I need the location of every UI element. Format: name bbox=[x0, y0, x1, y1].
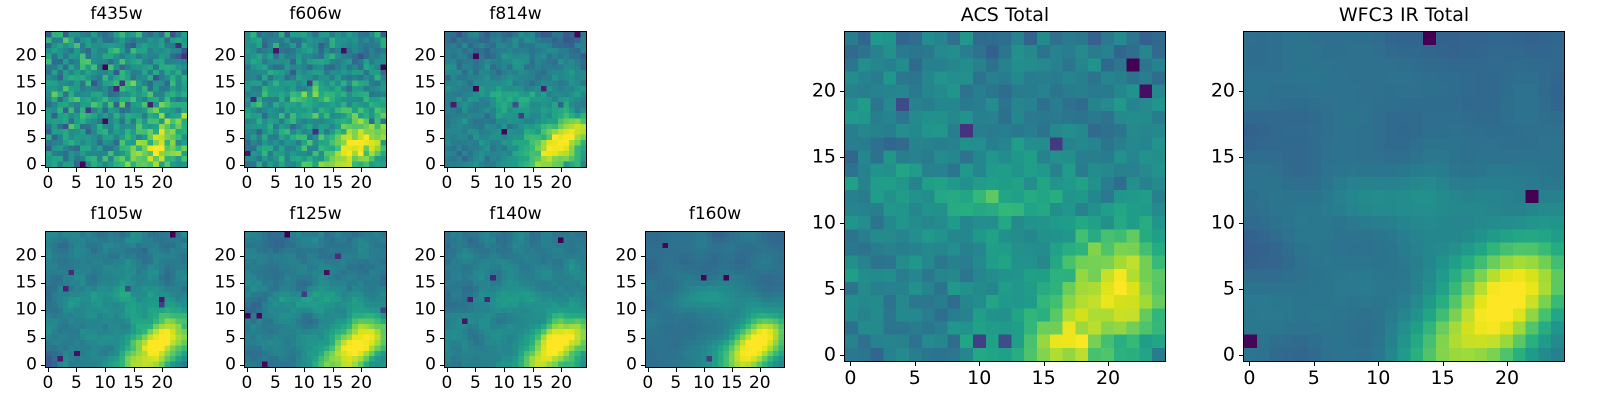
y-tick-label-f606w-15: 15 bbox=[202, 75, 236, 92]
y-tick-label-f814w-10: 10 bbox=[402, 102, 436, 119]
heatmap-acs-total bbox=[844, 31, 1166, 362]
x-tick-label-f105w-20: 20 bbox=[151, 375, 173, 392]
y-tick-f435w-20 bbox=[41, 56, 45, 57]
y-tick-f105w-15 bbox=[41, 283, 45, 284]
y-tick-f606w-15 bbox=[240, 83, 244, 84]
panel-title-acs-total: ACS Total bbox=[844, 6, 1166, 25]
x-tick-f606w-15 bbox=[333, 168, 334, 172]
y-tick-f606w-0 bbox=[240, 165, 244, 166]
x-tick-label-f606w-15: 15 bbox=[322, 175, 344, 192]
heatmap-wfc3-ir-total bbox=[1243, 31, 1565, 362]
y-tick-label-f105w-5: 5 bbox=[3, 329, 37, 346]
y-tick-f125w-20 bbox=[240, 256, 244, 257]
x-tick-label-f606w-0: 0 bbox=[241, 175, 252, 192]
heatmap-f105w bbox=[45, 231, 188, 368]
heatmap-canvas-acs-total bbox=[845, 32, 1165, 361]
y-tick-label-f105w-10: 10 bbox=[3, 302, 37, 319]
y-tick-label-f606w-10: 10 bbox=[202, 102, 236, 119]
y-tick-wfc3-ir-total-0 bbox=[1239, 355, 1243, 356]
y-tick-f435w-0 bbox=[41, 165, 45, 166]
x-tick-label-f814w-0: 0 bbox=[441, 175, 452, 192]
y-tick-label-f435w-0: 0 bbox=[3, 157, 37, 174]
x-tick-label-wfc3-ir-total-15: 15 bbox=[1431, 369, 1455, 388]
y-tick-label-f125w-15: 15 bbox=[202, 275, 236, 292]
y-tick-label-acs-total-0: 0 bbox=[802, 346, 836, 365]
y-tick-f606w-10 bbox=[240, 110, 244, 111]
x-tick-label-acs-total-0: 0 bbox=[844, 369, 856, 388]
heatmap-canvas-f105w bbox=[46, 232, 187, 367]
x-tick-label-f105w-10: 10 bbox=[94, 375, 116, 392]
x-tick-f606w-20 bbox=[361, 168, 362, 172]
x-tick-label-f606w-10: 10 bbox=[293, 175, 315, 192]
y-tick-label-f105w-0: 0 bbox=[3, 357, 37, 374]
y-tick-acs-total-5 bbox=[840, 289, 844, 290]
y-tick-acs-total-15 bbox=[840, 157, 844, 158]
x-tick-label-acs-total-20: 20 bbox=[1096, 369, 1120, 388]
y-tick-label-f125w-10: 10 bbox=[202, 302, 236, 319]
x-tick-acs-total-10 bbox=[979, 362, 980, 366]
y-tick-label-f125w-20: 20 bbox=[202, 247, 236, 264]
x-tick-label-f125w-5: 5 bbox=[270, 375, 281, 392]
panel-f160w: f160w0510152005101520 bbox=[603, 203, 785, 398]
x-tick-label-f140w-5: 5 bbox=[470, 375, 481, 392]
y-tick-wfc3-ir-total-20 bbox=[1239, 91, 1243, 92]
x-tick-label-wfc3-ir-total-10: 10 bbox=[1366, 369, 1390, 388]
y-tick-label-acs-total-5: 5 bbox=[802, 280, 836, 299]
panel-title-wfc3-ir-total: WFC3 IR Total bbox=[1243, 6, 1565, 25]
x-tick-label-f435w-20: 20 bbox=[151, 175, 173, 192]
y-tick-f814w-15 bbox=[440, 83, 444, 84]
panel-title-f140w: f140w bbox=[444, 206, 587, 223]
y-tick-label-f140w-10: 10 bbox=[402, 302, 436, 319]
x-tick-f140w-10 bbox=[504, 368, 505, 372]
x-tick-label-f814w-15: 15 bbox=[522, 175, 544, 192]
y-tick-label-acs-total-15: 15 bbox=[802, 147, 836, 166]
x-tick-f435w-20 bbox=[162, 168, 163, 172]
y-tick-label-acs-total-20: 20 bbox=[802, 81, 836, 100]
y-tick-label-f140w-20: 20 bbox=[402, 247, 436, 264]
y-tick-label-wfc3-ir-total-5: 5 bbox=[1201, 280, 1235, 299]
y-tick-label-f606w-0: 0 bbox=[202, 157, 236, 174]
x-tick-wfc3-ir-total-5 bbox=[1314, 362, 1315, 366]
x-tick-label-wfc3-ir-total-0: 0 bbox=[1243, 369, 1255, 388]
heatmap-canvas-f435w bbox=[46, 32, 187, 167]
x-tick-acs-total-20 bbox=[1108, 362, 1109, 366]
x-tick-f814w-15 bbox=[533, 168, 534, 172]
x-tick-label-f435w-5: 5 bbox=[71, 175, 82, 192]
x-tick-f125w-15 bbox=[333, 368, 334, 372]
y-tick-acs-total-20 bbox=[840, 91, 844, 92]
y-tick-f105w-5 bbox=[41, 338, 45, 339]
x-tick-label-f814w-20: 20 bbox=[550, 175, 572, 192]
x-tick-wfc3-ir-total-15 bbox=[1443, 362, 1444, 366]
panel-title-f435w: f435w bbox=[45, 6, 188, 23]
x-tick-acs-total-0 bbox=[850, 362, 851, 366]
x-tick-label-f125w-10: 10 bbox=[293, 375, 315, 392]
x-tick-f814w-0 bbox=[447, 168, 448, 172]
y-tick-acs-total-0 bbox=[840, 355, 844, 356]
x-tick-f606w-10 bbox=[304, 168, 305, 172]
x-tick-f160w-15 bbox=[732, 368, 733, 372]
y-tick-label-wfc3-ir-total-0: 0 bbox=[1201, 346, 1235, 365]
x-tick-label-f606w-20: 20 bbox=[350, 175, 372, 192]
panel-title-f814w: f814w bbox=[444, 6, 587, 23]
x-tick-label-f435w-0: 0 bbox=[42, 175, 53, 192]
heatmap-f125w bbox=[244, 231, 387, 368]
y-tick-f814w-0 bbox=[440, 165, 444, 166]
y-tick-label-f435w-10: 10 bbox=[3, 102, 37, 119]
x-tick-f814w-20 bbox=[561, 168, 562, 172]
y-tick-f140w-0 bbox=[440, 365, 444, 366]
x-tick-label-f160w-10: 10 bbox=[693, 375, 715, 392]
x-tick-f140w-5 bbox=[475, 368, 476, 372]
x-tick-f125w-5 bbox=[275, 368, 276, 372]
y-tick-f160w-10 bbox=[641, 310, 645, 311]
y-tick-acs-total-10 bbox=[840, 223, 844, 224]
y-tick-f140w-20 bbox=[440, 256, 444, 257]
x-tick-f435w-15 bbox=[134, 168, 135, 172]
y-tick-f140w-10 bbox=[440, 310, 444, 311]
x-tick-label-f606w-5: 5 bbox=[270, 175, 281, 192]
y-tick-f140w-15 bbox=[440, 283, 444, 284]
y-tick-label-wfc3-ir-total-10: 10 bbox=[1201, 213, 1235, 232]
x-tick-label-f160w-5: 5 bbox=[670, 375, 681, 392]
y-tick-label-acs-total-10: 10 bbox=[802, 213, 836, 232]
heatmap-canvas-f140w bbox=[445, 232, 586, 367]
x-tick-label-f160w-20: 20 bbox=[749, 375, 771, 392]
x-tick-f814w-5 bbox=[475, 168, 476, 172]
x-tick-wfc3-ir-total-20 bbox=[1507, 362, 1508, 366]
x-tick-f140w-0 bbox=[447, 368, 448, 372]
panel-title-f606w: f606w bbox=[244, 6, 387, 23]
x-tick-label-f125w-15: 15 bbox=[322, 375, 344, 392]
x-tick-label-f160w-15: 15 bbox=[721, 375, 743, 392]
y-tick-label-f160w-0: 0 bbox=[603, 357, 637, 374]
y-tick-label-f814w-20: 20 bbox=[402, 47, 436, 64]
x-tick-label-acs-total-5: 5 bbox=[909, 369, 921, 388]
y-tick-f125w-10 bbox=[240, 310, 244, 311]
x-tick-f105w-10 bbox=[105, 368, 106, 372]
y-tick-f435w-10 bbox=[41, 110, 45, 111]
x-tick-label-f105w-5: 5 bbox=[71, 375, 82, 392]
panel-title-f125w: f125w bbox=[244, 206, 387, 223]
heatmap-f435w bbox=[45, 31, 188, 168]
x-tick-f160w-20 bbox=[760, 368, 761, 372]
panel-f105w: f105w0510152005101520 bbox=[3, 203, 188, 398]
panel-f435w: f435w0510152005101520 bbox=[3, 3, 188, 198]
y-tick-label-f160w-10: 10 bbox=[603, 302, 637, 319]
y-tick-wfc3-ir-total-5 bbox=[1239, 289, 1243, 290]
y-tick-label-f160w-5: 5 bbox=[603, 329, 637, 346]
x-tick-label-f814w-10: 10 bbox=[493, 175, 515, 192]
x-tick-label-f125w-0: 0 bbox=[241, 375, 252, 392]
y-tick-label-f125w-0: 0 bbox=[202, 357, 236, 374]
heatmap-f814w bbox=[444, 31, 587, 168]
y-tick-f125w-5 bbox=[240, 338, 244, 339]
y-tick-wfc3-ir-total-10 bbox=[1239, 223, 1243, 224]
x-tick-label-f140w-0: 0 bbox=[441, 375, 452, 392]
x-tick-label-f140w-10: 10 bbox=[493, 375, 515, 392]
y-tick-f140w-5 bbox=[440, 338, 444, 339]
x-tick-f125w-0 bbox=[247, 368, 248, 372]
panel-acs-total: ACS Total0510152005101520 bbox=[802, 3, 1166, 392]
x-tick-label-f435w-10: 10 bbox=[94, 175, 116, 192]
y-tick-f160w-15 bbox=[641, 283, 645, 284]
heatmap-f606w bbox=[244, 31, 387, 168]
x-tick-wfc3-ir-total-10 bbox=[1378, 362, 1379, 366]
x-tick-label-f105w-0: 0 bbox=[42, 375, 53, 392]
y-tick-label-f435w-5: 5 bbox=[3, 129, 37, 146]
panel-title-f105w: f105w bbox=[45, 206, 188, 223]
x-tick-label-f160w-0: 0 bbox=[642, 375, 653, 392]
y-tick-label-f140w-5: 5 bbox=[402, 329, 436, 346]
x-tick-label-acs-total-15: 15 bbox=[1032, 369, 1056, 388]
x-tick-label-f435w-15: 15 bbox=[123, 175, 145, 192]
x-tick-f105w-20 bbox=[162, 368, 163, 372]
panel-title-f160w: f160w bbox=[645, 206, 785, 223]
x-tick-f105w-0 bbox=[48, 368, 49, 372]
heatmap-canvas-f125w bbox=[245, 232, 386, 367]
x-tick-f140w-15 bbox=[533, 368, 534, 372]
y-tick-label-f814w-5: 5 bbox=[402, 129, 436, 146]
x-tick-wfc3-ir-total-0 bbox=[1249, 362, 1250, 366]
panel-f606w: f606w0510152005101520 bbox=[202, 3, 387, 198]
x-tick-f105w-15 bbox=[134, 368, 135, 372]
panel-f140w: f140w0510152005101520 bbox=[402, 203, 587, 398]
y-tick-f125w-0 bbox=[240, 365, 244, 366]
x-tick-f435w-5 bbox=[76, 168, 77, 172]
y-tick-f160w-20 bbox=[641, 256, 645, 257]
x-tick-f435w-0 bbox=[48, 168, 49, 172]
figure-canvas: f435w0510152005101520f606w05101520051015… bbox=[0, 0, 1600, 400]
y-tick-label-f160w-15: 15 bbox=[603, 275, 637, 292]
panel-f814w: f814w0510152005101520 bbox=[402, 3, 587, 198]
y-tick-label-f814w-0: 0 bbox=[402, 157, 436, 174]
x-tick-acs-total-5 bbox=[915, 362, 916, 366]
y-tick-f606w-5 bbox=[240, 138, 244, 139]
y-tick-label-wfc3-ir-total-20: 20 bbox=[1201, 81, 1235, 100]
y-tick-f105w-20 bbox=[41, 256, 45, 257]
y-tick-f160w-5 bbox=[641, 338, 645, 339]
y-tick-f814w-10 bbox=[440, 110, 444, 111]
heatmap-f160w bbox=[645, 231, 785, 368]
y-tick-label-f105w-15: 15 bbox=[3, 275, 37, 292]
x-tick-label-f140w-20: 20 bbox=[550, 375, 572, 392]
y-tick-label-f160w-20: 20 bbox=[603, 247, 637, 264]
y-tick-label-f814w-15: 15 bbox=[402, 75, 436, 92]
y-tick-label-wfc3-ir-total-15: 15 bbox=[1201, 147, 1235, 166]
x-tick-label-f105w-15: 15 bbox=[123, 375, 145, 392]
y-tick-f435w-15 bbox=[41, 83, 45, 84]
heatmap-f140w bbox=[444, 231, 587, 368]
y-tick-label-f140w-0: 0 bbox=[402, 357, 436, 374]
x-tick-f606w-0 bbox=[247, 168, 248, 172]
x-tick-f105w-5 bbox=[76, 368, 77, 372]
heatmap-canvas-f814w bbox=[445, 32, 586, 167]
y-tick-f435w-5 bbox=[41, 138, 45, 139]
x-tick-label-wfc3-ir-total-20: 20 bbox=[1495, 369, 1519, 388]
x-tick-label-wfc3-ir-total-5: 5 bbox=[1308, 369, 1320, 388]
x-tick-acs-total-15 bbox=[1044, 362, 1045, 366]
y-tick-f606w-20 bbox=[240, 56, 244, 57]
y-tick-label-f125w-5: 5 bbox=[202, 329, 236, 346]
x-tick-f140w-20 bbox=[561, 368, 562, 372]
x-tick-f160w-10 bbox=[704, 368, 705, 372]
x-tick-f160w-0 bbox=[648, 368, 649, 372]
x-tick-f160w-5 bbox=[676, 368, 677, 372]
y-tick-label-f435w-20: 20 bbox=[3, 47, 37, 64]
y-tick-f125w-15 bbox=[240, 283, 244, 284]
x-tick-f125w-20 bbox=[361, 368, 362, 372]
x-tick-label-f814w-5: 5 bbox=[470, 175, 481, 192]
y-tick-label-f140w-15: 15 bbox=[402, 275, 436, 292]
y-tick-f814w-5 bbox=[440, 138, 444, 139]
panel-f125w: f125w0510152005101520 bbox=[202, 203, 387, 398]
x-tick-label-acs-total-10: 10 bbox=[967, 369, 991, 388]
y-tick-label-f105w-20: 20 bbox=[3, 247, 37, 264]
x-tick-f125w-10 bbox=[304, 368, 305, 372]
heatmap-canvas-f606w bbox=[245, 32, 386, 167]
x-tick-label-f125w-20: 20 bbox=[350, 375, 372, 392]
heatmap-canvas-f160w bbox=[646, 232, 784, 367]
y-tick-label-f435w-15: 15 bbox=[3, 75, 37, 92]
y-tick-f105w-0 bbox=[41, 365, 45, 366]
y-tick-label-f606w-20: 20 bbox=[202, 47, 236, 64]
x-tick-f606w-5 bbox=[275, 168, 276, 172]
y-tick-f814w-20 bbox=[440, 56, 444, 57]
y-tick-wfc3-ir-total-15 bbox=[1239, 157, 1243, 158]
y-tick-f160w-0 bbox=[641, 365, 645, 366]
x-tick-label-f140w-15: 15 bbox=[522, 375, 544, 392]
x-tick-f814w-10 bbox=[504, 168, 505, 172]
panel-wfc3-ir-total: WFC3 IR Total0510152005101520 bbox=[1201, 3, 1565, 392]
y-tick-f105w-10 bbox=[41, 310, 45, 311]
x-tick-f435w-10 bbox=[105, 168, 106, 172]
heatmap-canvas-wfc3-ir-total bbox=[1244, 32, 1564, 361]
y-tick-label-f606w-5: 5 bbox=[202, 129, 236, 146]
